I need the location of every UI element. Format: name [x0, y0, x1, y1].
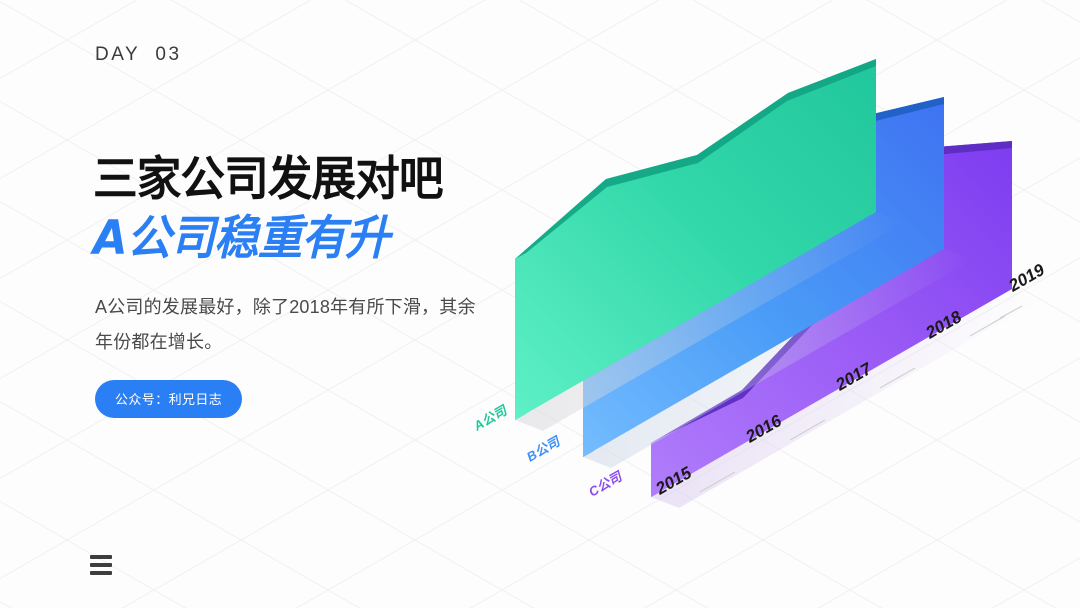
- series-label-C公司: C公司: [586, 468, 626, 500]
- series-label-B公司: B公司: [524, 433, 564, 465]
- page-subtitle: A公司稳重有升: [93, 211, 502, 266]
- hamburger-menu-icon[interactable]: [90, 555, 112, 575]
- text-column: DAY 03 三家公司发展对吧 A公司稳重有升 A公司的发展最好，除了2018年…: [95, 0, 515, 608]
- menu-bar-2: [90, 563, 112, 567]
- title-block: 三家公司发展对吧 A公司稳重有升: [93, 152, 523, 266]
- page-title: 三家公司发展对吧: [93, 152, 502, 207]
- day-label: DAY 03: [95, 44, 182, 66]
- status-badge: 公众号：利兄日志: [95, 380, 242, 418]
- slide-canvas: 2015 2016 2017 2018 2019 A公司 B公司 C公司 DAY…: [0, 0, 1080, 608]
- menu-bar-1: [90, 555, 112, 559]
- body-paragraph: A公司的发展最好，除了2018年有所下滑，其余年份都在增长。: [95, 290, 485, 360]
- menu-bar-3: [90, 571, 112, 575]
